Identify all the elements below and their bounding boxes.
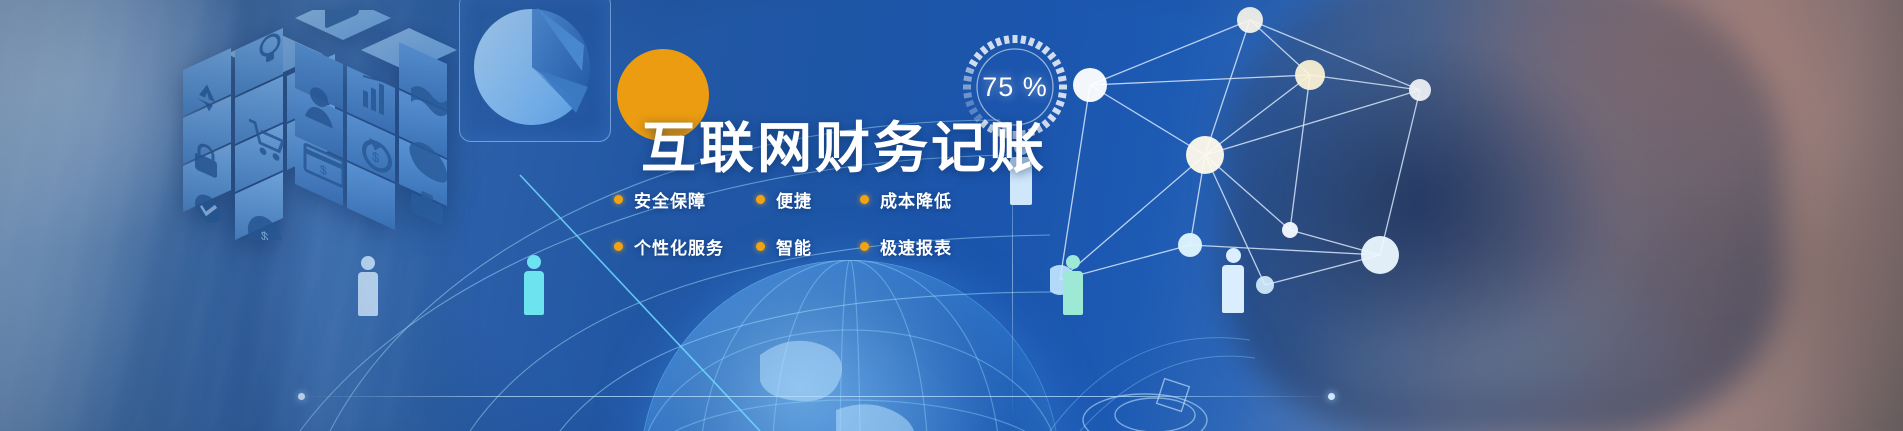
vignette-overlay	[0, 0, 1903, 431]
marketing-banner: $ $	[0, 0, 1903, 431]
